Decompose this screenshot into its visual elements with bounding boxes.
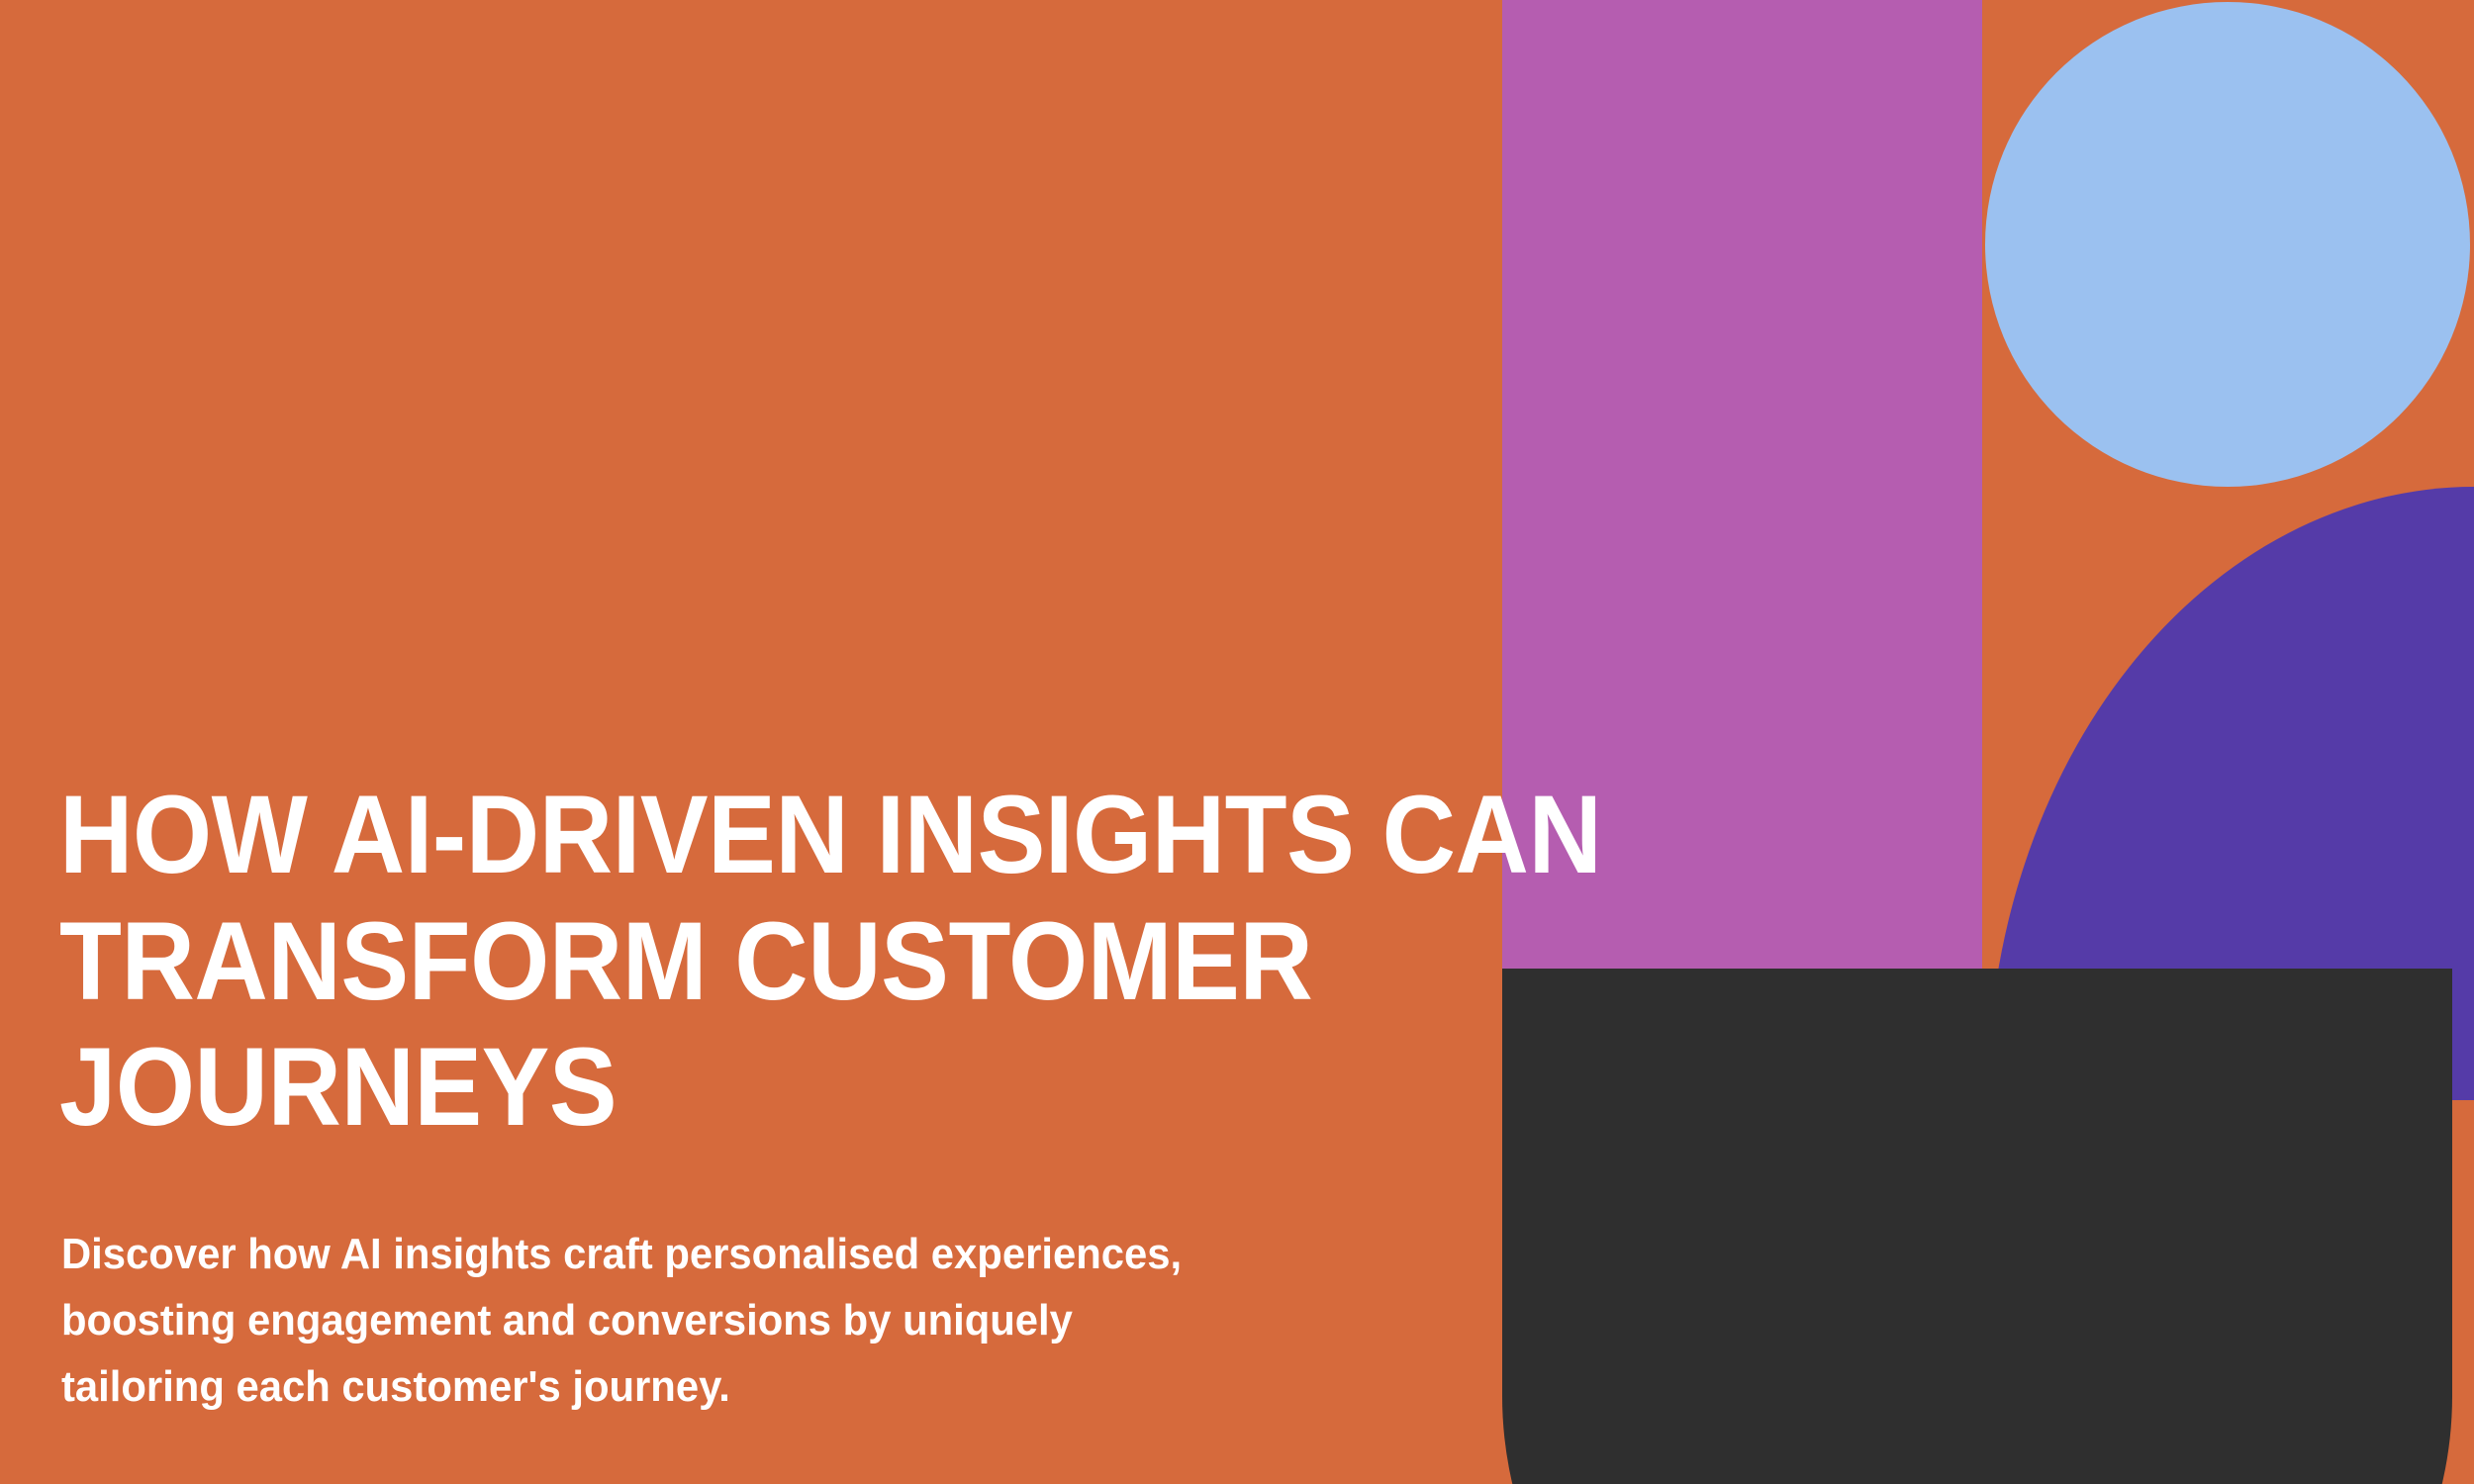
page-title: HOW AI-DRIVEN INSIGHTS CAN TRANSFORM CUS… [59, 772, 1662, 1151]
slide-canvas: HOW AI-DRIVEN INSIGHTS CAN TRANSFORM CUS… [0, 0, 2474, 1484]
page-subtitle: Discover how AI insights craft personali… [61, 1222, 1189, 1421]
text-layer: HOW AI-DRIVEN INSIGHTS CAN TRANSFORM CUS… [0, 0, 2474, 1484]
